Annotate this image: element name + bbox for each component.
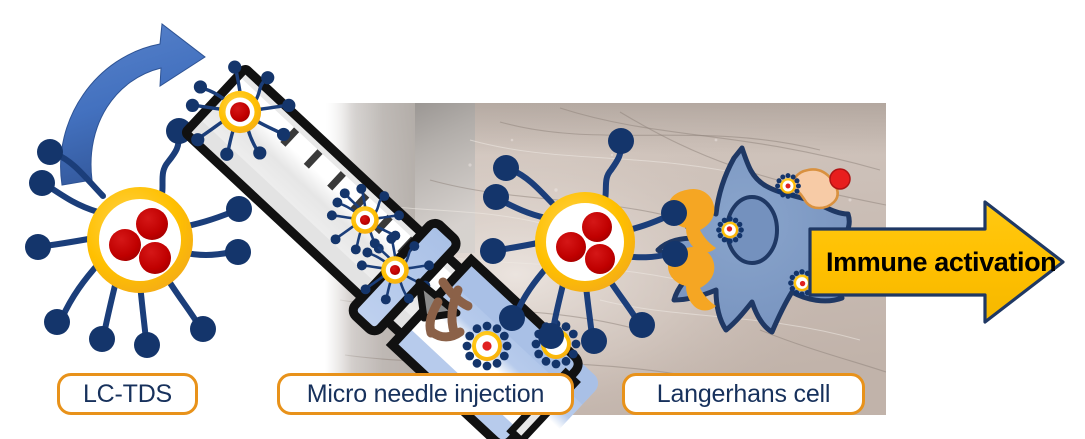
label-micro-needle-injection: Micro needle injection — [277, 373, 574, 415]
label-lc-tds: LC-TDS — [57, 373, 198, 415]
label-langerhans-cell: Langerhans cell — [622, 373, 865, 415]
curved-arrow-icon — [61, 24, 205, 185]
figure-canvas: Immune activation LC-TDS Micro needle in… — [0, 0, 1085, 439]
